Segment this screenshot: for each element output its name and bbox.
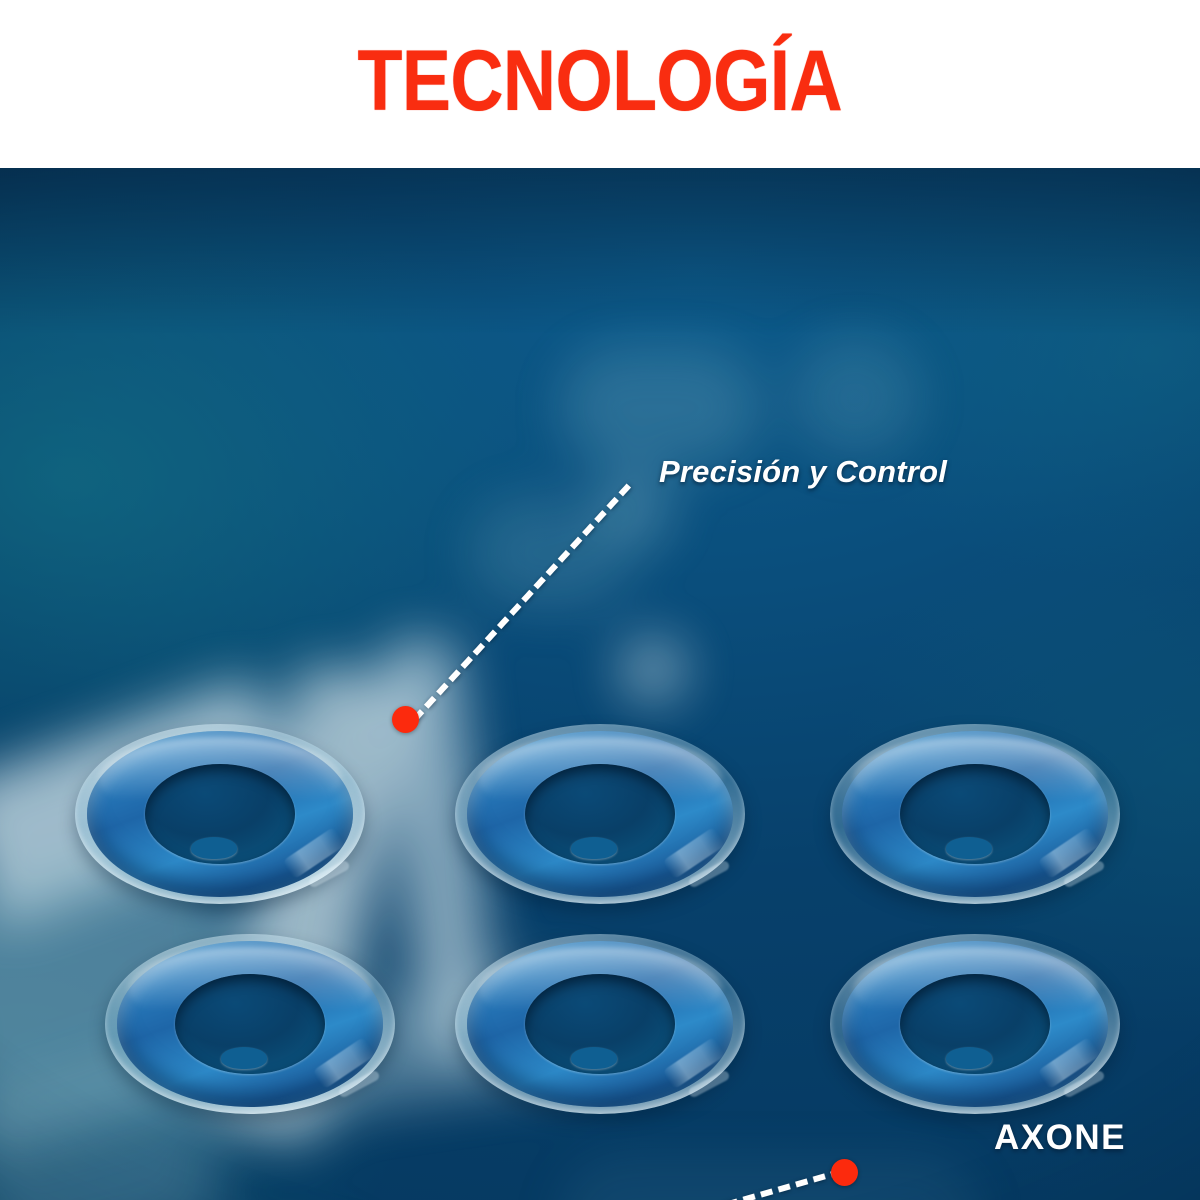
product-photo-panel: Precisión y Control Excelentes Materiale… (0, 168, 1200, 1200)
washer-item (455, 724, 745, 904)
washer-grid (0, 168, 1200, 1200)
page-title: TECNOLOGÍA (358, 38, 842, 130)
washer-item (105, 934, 395, 1114)
header-band: TECNOLOGÍA (0, 0, 1200, 168)
washer-item (455, 934, 745, 1114)
washer-notch (571, 1047, 617, 1069)
washer-notch (946, 1047, 992, 1069)
washer-item (830, 934, 1120, 1114)
washer-notch (946, 837, 992, 859)
washer-item (75, 724, 365, 904)
callout-marker-precision (392, 706, 419, 733)
callout-marker-materials (831, 1159, 858, 1186)
washer-notch (221, 1047, 267, 1069)
callout-label-precision: Precisión y Control (659, 454, 947, 490)
washer-notch (191, 837, 237, 859)
washer-item (830, 724, 1120, 904)
brand-logo: AXONE (994, 1118, 1126, 1158)
promo-graphic: TECNOLOGÍA (0, 0, 1200, 1200)
washer-notch (571, 837, 617, 859)
